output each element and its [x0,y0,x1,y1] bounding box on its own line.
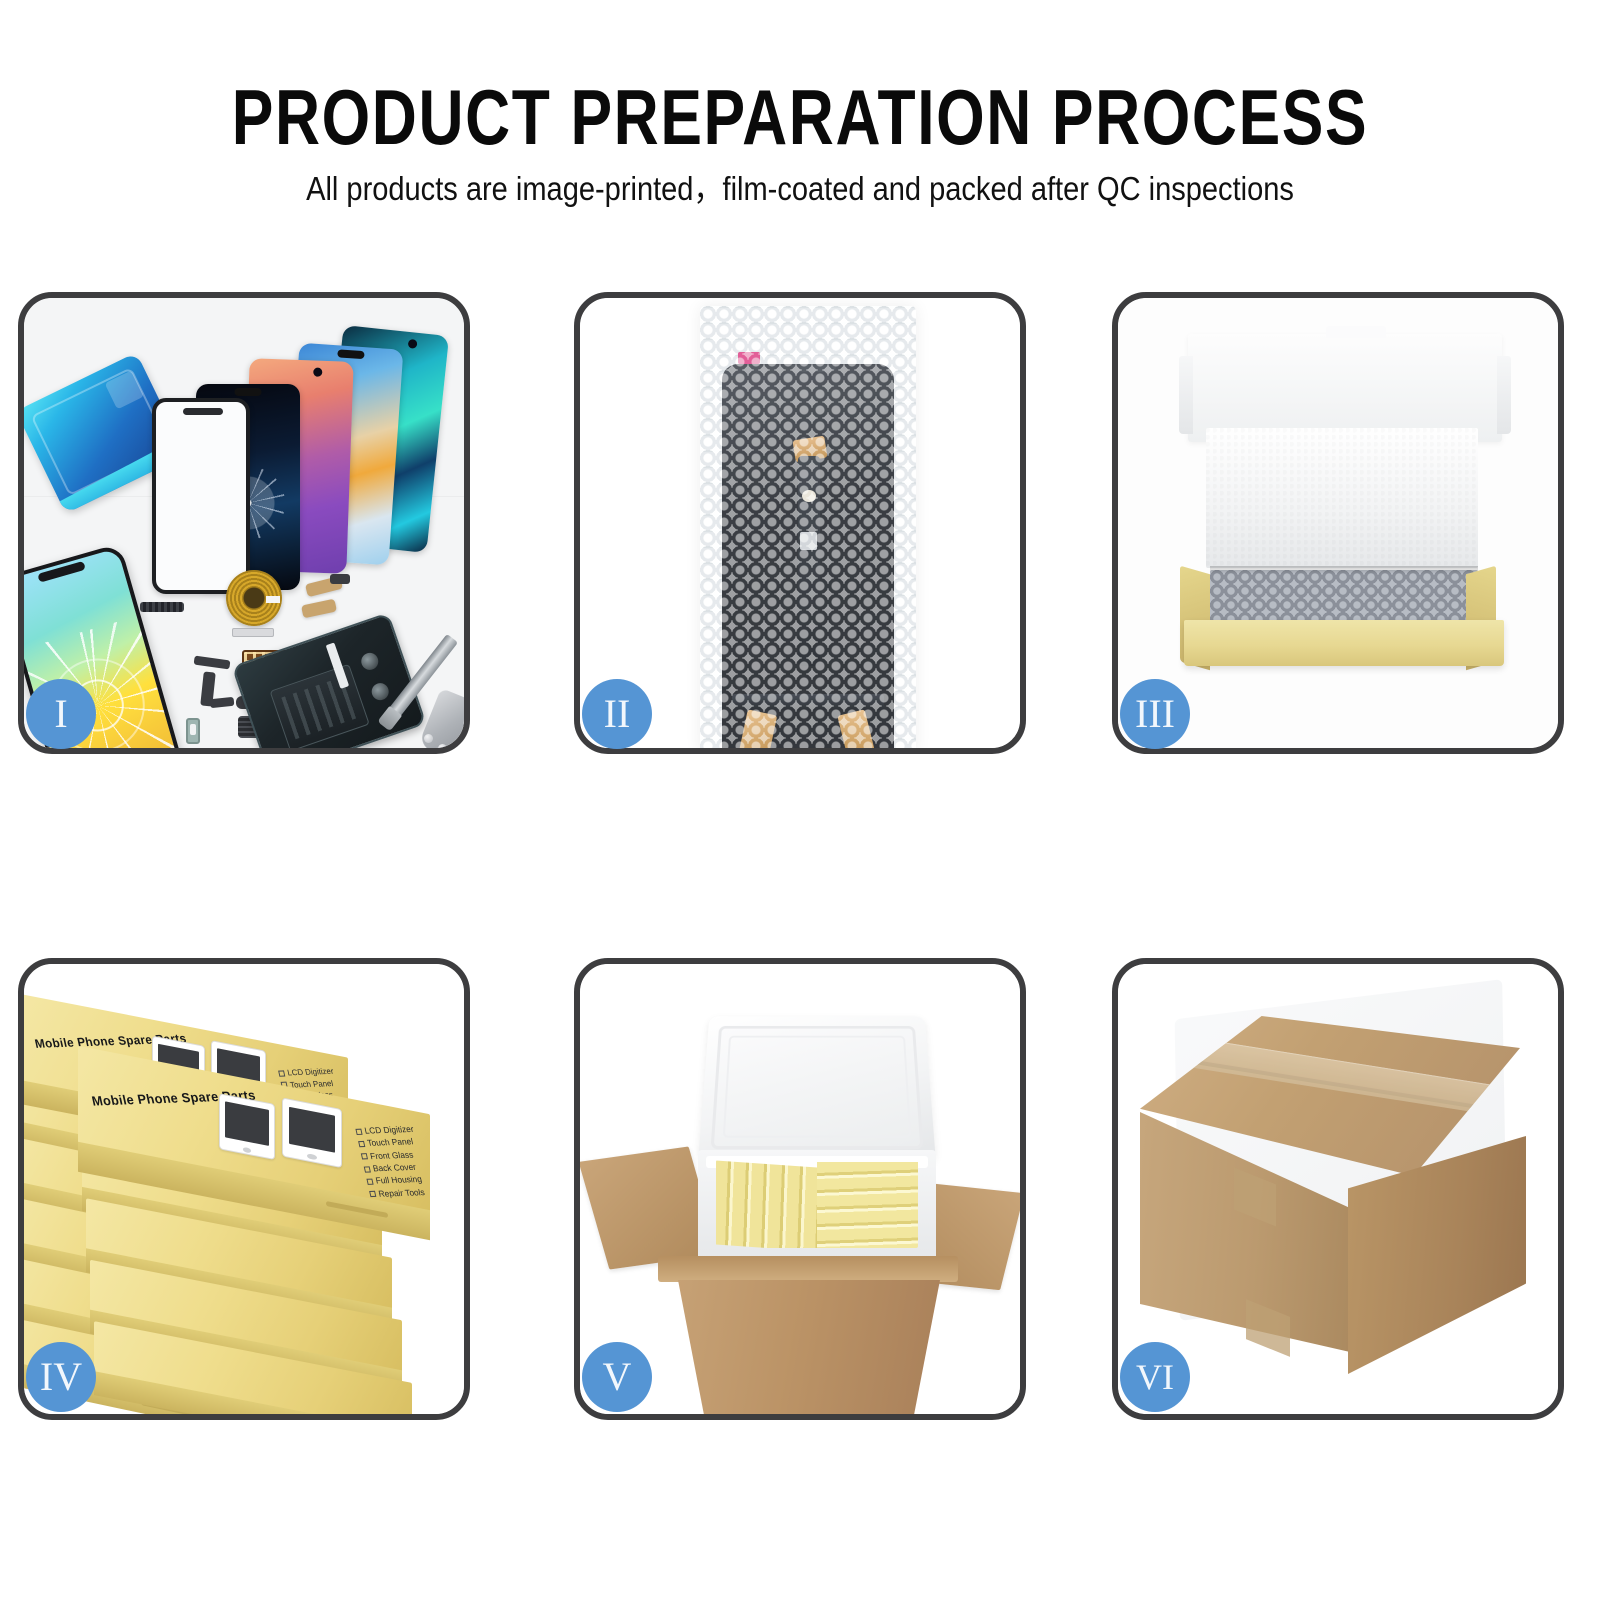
checkbox-icon [367,1178,374,1184]
battery-pack [269,664,369,748]
lid-tab [1326,326,1386,338]
checkbox-icon [358,1141,365,1147]
checklist-item: Full Housing [366,1173,426,1188]
foam-sheet [1206,428,1478,568]
screen-notch [37,561,86,583]
checklist-item: Repair Tools [369,1185,429,1200]
carton-top-edge [658,1256,958,1282]
camera-lens-icon [370,680,392,702]
step-image-sealed-carton [1118,964,1558,1414]
screw-icon [438,744,447,748]
styrofoam-lid [698,1016,936,1161]
camera-hole-icon [314,367,323,376]
checkbox-icon [361,1153,368,1159]
step-badge-5: V [582,1342,652,1412]
screw-icon [424,734,433,743]
step-panel-retail-box-stack: Mobile Phone Spare Parts LCD Digitizer T… [18,958,470,1420]
screen-notch [337,349,365,359]
lid-side-flap-right [1497,356,1511,434]
box-product-photo [282,1097,342,1167]
step-panel-product-assortment [18,292,470,754]
retail-box-row-right [817,1162,918,1248]
checkbox-icon [278,1070,285,1076]
lid-inset-inner [723,1036,912,1138]
tray-inner-shadow [1210,566,1478,574]
camera-lens-icon [359,650,381,672]
camera-hole-icon [407,339,417,349]
step-badge-6: VI [1120,1342,1190,1412]
checkbox-icon [364,1166,371,1172]
checkbox-icon [370,1191,377,1197]
step-panel-inner-box-packing [1112,292,1564,754]
bubble-wrap-sleeve [700,306,916,748]
earpiece-slot [183,408,223,415]
box-checklist: LCD Digitizer Touch Panel Front Glass Ba… [355,1123,429,1200]
step-badge-1: I [26,679,96,749]
step-image-retail-box-stack: Mobile Phone Spare Parts LCD Digitizer T… [24,964,464,1414]
step-image-carton-loading [580,964,1020,1414]
tray-wall-front [1184,620,1504,666]
front-glass-panel [152,398,250,594]
wireless-charging-coil [226,570,282,626]
sim-card-tray [186,718,200,744]
step-image-product-assortment [24,298,464,748]
step-panel-bubble-wrap-packing [574,292,1026,754]
step-image-bubble-wrap-packing [580,298,1020,748]
process-step-grid: Mobile Phone Spare Parts LCD Digitizer T… [0,0,1600,1600]
step-image-inner-box-packing [1118,298,1558,748]
step-badge-3: III [1120,679,1190,749]
coil-notch [266,596,280,603]
checklist-item: LCD Digitizer [277,1065,334,1079]
flex-connector [330,574,350,584]
earpiece-mesh [140,602,184,612]
bubble-wrap-filling [1210,570,1478,624]
box-product-photo [219,1093,275,1161]
retail-box-row-left [716,1160,817,1248]
checkbox-icon [356,1128,363,1134]
carton-body [678,1280,940,1414]
step-badge-4: IV [26,1342,96,1412]
step-panel-sealed-carton [1112,958,1564,1420]
step-badge-2: II [582,679,652,749]
step-panel-carton-loading [574,958,1026,1420]
box-lid-open [1188,334,1502,442]
bubble-wrap-overlay [700,306,916,748]
lid-side-flap-left [1179,356,1193,434]
retail-boxes-loaded [716,1160,918,1248]
screen-notch [234,388,261,396]
coil-flex-tail [232,628,274,637]
